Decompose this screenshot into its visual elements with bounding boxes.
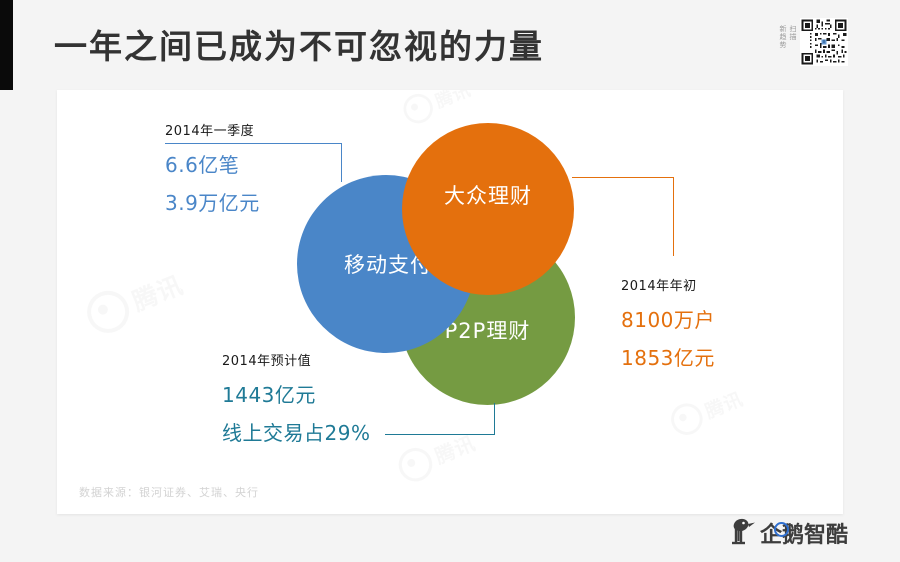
brand-logo: 企鹅智酷 <box>730 517 848 549</box>
tencent-ring-icon <box>666 399 707 440</box>
callout-value-p2p-lending-2: 线上交易占29% <box>222 417 370 446</box>
tencent-ring-icon <box>394 443 438 487</box>
qr-block[interactable]: 扫描 新趋势 <box>778 18 848 66</box>
callout-value-mass-wealth-1: 8100万户 <box>621 304 715 333</box>
watermark: 腾讯 <box>81 263 189 339</box>
callout-value-mobile-payment-1: 6.6亿笔 <box>165 149 260 178</box>
watermark: 腾讯 <box>666 382 747 439</box>
callout-value-mass-wealth-2: 1853亿元 <box>621 342 715 371</box>
watermark: 腾讯 <box>399 90 475 128</box>
qr-caption: 扫描 新趋势 <box>778 18 797 49</box>
callout-title-mobile-payment: 2014年一季度 <box>165 120 260 139</box>
watermark-text: 腾讯 <box>701 384 747 424</box>
brand-name: 企鹅智酷 <box>760 517 848 549</box>
callout-value-mobile-payment-2: 3.9万亿元 <box>165 187 260 216</box>
qr-code-icon[interactable] <box>800 18 848 66</box>
watermark-text: 腾讯 <box>431 90 474 113</box>
connector-p2p-vertical <box>494 403 495 435</box>
circle-label-mass-wealth: 大众理财 <box>444 180 532 210</box>
qr-caption-line2: 新趋势 <box>778 25 787 49</box>
callout-mobile-payment: 2014年一季度 6.6亿笔 3.9万亿元 <box>165 120 260 216</box>
tencent-ring-icon <box>399 90 437 128</box>
connector-p2p-horizontal <box>385 434 494 435</box>
source-note: 数据来源：银河证券、艾瑞、央行 <box>79 484 259 500</box>
connector-mass-wealth-vertical <box>673 177 674 256</box>
brand-dot-icon <box>774 522 789 537</box>
watermark-text: 腾讯 <box>126 266 188 319</box>
content-card: 腾讯 腾讯 腾讯 腾讯 P2P理财 移动支付 大众理财 2014年一季度 6.6… <box>57 90 843 514</box>
callout-value-p2p-lending-1: 1443亿元 <box>222 379 370 408</box>
qr-caption-line1: 扫描 <box>788 25 797 49</box>
penguin-icon <box>730 517 756 549</box>
connector-mass-wealth-horizontal <box>572 177 673 178</box>
accent-bar <box>0 0 13 90</box>
callout-p2p-lending: 2014年预计值 1443亿元 线上交易占29% <box>222 350 370 446</box>
circle-label-p2p-lending: P2P理财 <box>445 315 531 345</box>
circle-mass-wealth[interactable]: 大众理财 <box>402 123 574 295</box>
connector-mobile-payment-vertical <box>341 143 342 182</box>
page-title: 一年之间已成为不可忽视的力量 <box>54 20 544 68</box>
tencent-ring-icon <box>81 285 136 340</box>
callout-mass-wealth: 2014年年初 8100万户 1853亿元 <box>621 275 715 371</box>
callout-title-mass-wealth: 2014年年初 <box>621 275 715 294</box>
callout-title-p2p-lending: 2014年预计值 <box>222 350 370 369</box>
